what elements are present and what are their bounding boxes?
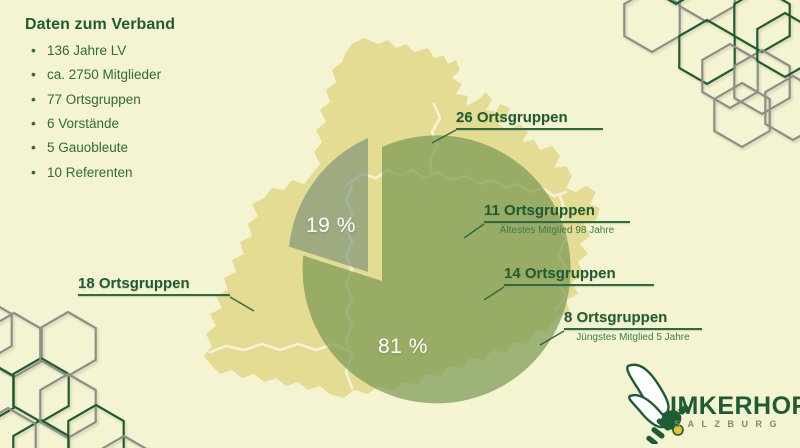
- list-item: 6 Vorstände: [25, 117, 285, 132]
- callout-label: 26 Ortsgruppen: [456, 109, 603, 128]
- list-item: 77 Ortsgruppen: [25, 93, 285, 108]
- pie-value-label-19: 19 %: [306, 214, 356, 238]
- logo-subtitle: SALZBURG: [674, 420, 784, 429]
- callout-8-ortsgruppen: 8 Ortsgruppen Jüngstes Mitglied 5 Jahre: [564, 309, 702, 343]
- callout-subtitle: Jüngstes Mitglied 5 Jahre: [564, 330, 702, 343]
- verband-facts-list: 136 Jahre LV ca. 2750 Mitglieder 77 Orts…: [25, 44, 285, 181]
- pie-value-label-81: 81 %: [378, 335, 428, 359]
- page-title: Daten zum Verband: [25, 16, 285, 34]
- verband-info-block: Daten zum Verband 136 Jahre LV ca. 2750 …: [25, 16, 285, 190]
- callout-label: 14 Ortsgruppen: [504, 265, 654, 284]
- imkerhof-logo: IMKERHOF SALZBURG: [612, 358, 797, 444]
- list-item: 5 Gauobleute: [25, 141, 285, 156]
- callout-label: 11 Ortsgruppen: [484, 202, 630, 221]
- callout-18-ortsgruppen: 18 Ortsgruppen: [78, 275, 230, 296]
- callout-subtitle: Ältestes Mitglied 98 Jahre: [484, 223, 630, 236]
- callout-14-ortsgruppen: 14 Ortsgruppen: [504, 265, 654, 286]
- logo-wordmark: IMKERHOF: [670, 394, 800, 419]
- list-item: ca. 2750 Mitglieder: [25, 68, 285, 83]
- infographic-slide: 81 % 19 % Daten zum Verband 136 Jahre LV…: [0, 0, 800, 448]
- callout-label: 8 Ortsgruppen: [564, 309, 702, 328]
- callout-underline: [78, 294, 230, 296]
- callout-label: 18 Ortsgruppen: [78, 275, 230, 294]
- callout-26-ortsgruppen: 26 Ortsgruppen: [456, 109, 603, 130]
- list-item: 136 Jahre LV: [25, 44, 285, 59]
- pie-slice-19: [289, 138, 368, 272]
- callout-11-ortsgruppen: 11 Ortsgruppen Ältestes Mitglied 98 Jahr…: [484, 202, 630, 236]
- callout-underline: [456, 128, 603, 130]
- list-item: 10 Referenten: [25, 166, 285, 181]
- callout-underline: [504, 284, 654, 286]
